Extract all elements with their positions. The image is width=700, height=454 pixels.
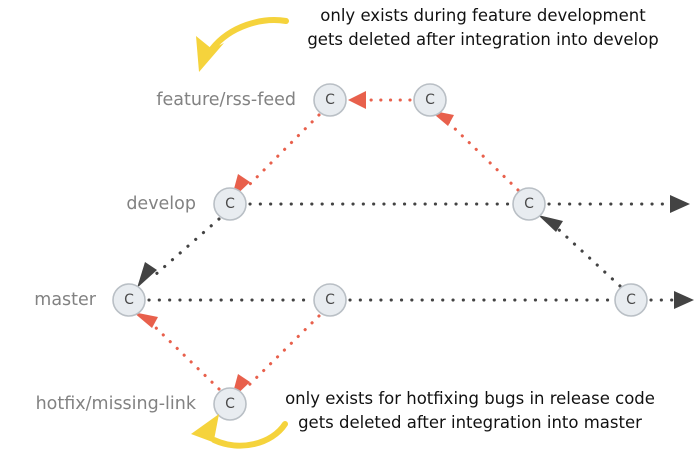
commit-node-hotfix-1[interactable]: C (214, 388, 246, 420)
edge-master-to-develop-merge (538, 215, 620, 286)
commit-node-develop-1[interactable]: C (214, 188, 246, 220)
commit-node-feature-1[interactable]: C (314, 84, 346, 116)
commit-node-develop-2[interactable]: C (513, 188, 545, 220)
edge-master-branches-to-hotfix (231, 316, 319, 400)
edge-develop-mainline-2 (549, 195, 690, 213)
commit-letter: C (124, 292, 134, 308)
annotation-feature-line1: only exists during feature development (320, 6, 646, 25)
commit-letter: C (524, 196, 534, 212)
edge-feature-commit (348, 91, 410, 109)
commit-node-master-1[interactable]: C (113, 284, 145, 316)
commit-letter: C (225, 396, 235, 412)
edge-master-mainline-3 (651, 291, 694, 309)
edge-feature-merge-to-develop (429, 110, 518, 190)
edge-hotfix-merge-to-master (133, 312, 219, 389)
commit-letter: C (325, 92, 335, 108)
annotation-arrow-feature-icon (196, 20, 286, 72)
branch-label-master: master (34, 290, 97, 310)
commit-node-master-2[interactable]: C (314, 284, 346, 316)
edge-develop-branches-to-feature (231, 115, 319, 200)
edge-develop-to-master-release (137, 219, 219, 288)
branch-label-develop: develop (126, 194, 196, 214)
commit-letter: C (425, 92, 435, 108)
annotation-feature-line2: gets deleted after integration into deve… (307, 30, 658, 49)
annotation-arrow-hotfix-icon (191, 414, 285, 447)
git-branching-diagram: feature/rss-feed develop master hotfix/m… (0, 0, 700, 454)
commit-letter: C (325, 292, 335, 308)
commit-node-master-3[interactable]: C (615, 284, 647, 316)
branch-label-hotfix: hotfix/missing-link (36, 394, 197, 414)
annotation-hotfix-line1: only exists for hotfixing bugs in releas… (285, 389, 655, 408)
commit-letter: C (626, 292, 636, 308)
branch-label-feature: feature/rss-feed (156, 90, 296, 110)
commit-node-feature-2[interactable]: C (414, 84, 446, 116)
commit-letter: C (225, 196, 235, 212)
annotation-hotfix-line2: gets deleted after integration into mast… (298, 413, 642, 432)
